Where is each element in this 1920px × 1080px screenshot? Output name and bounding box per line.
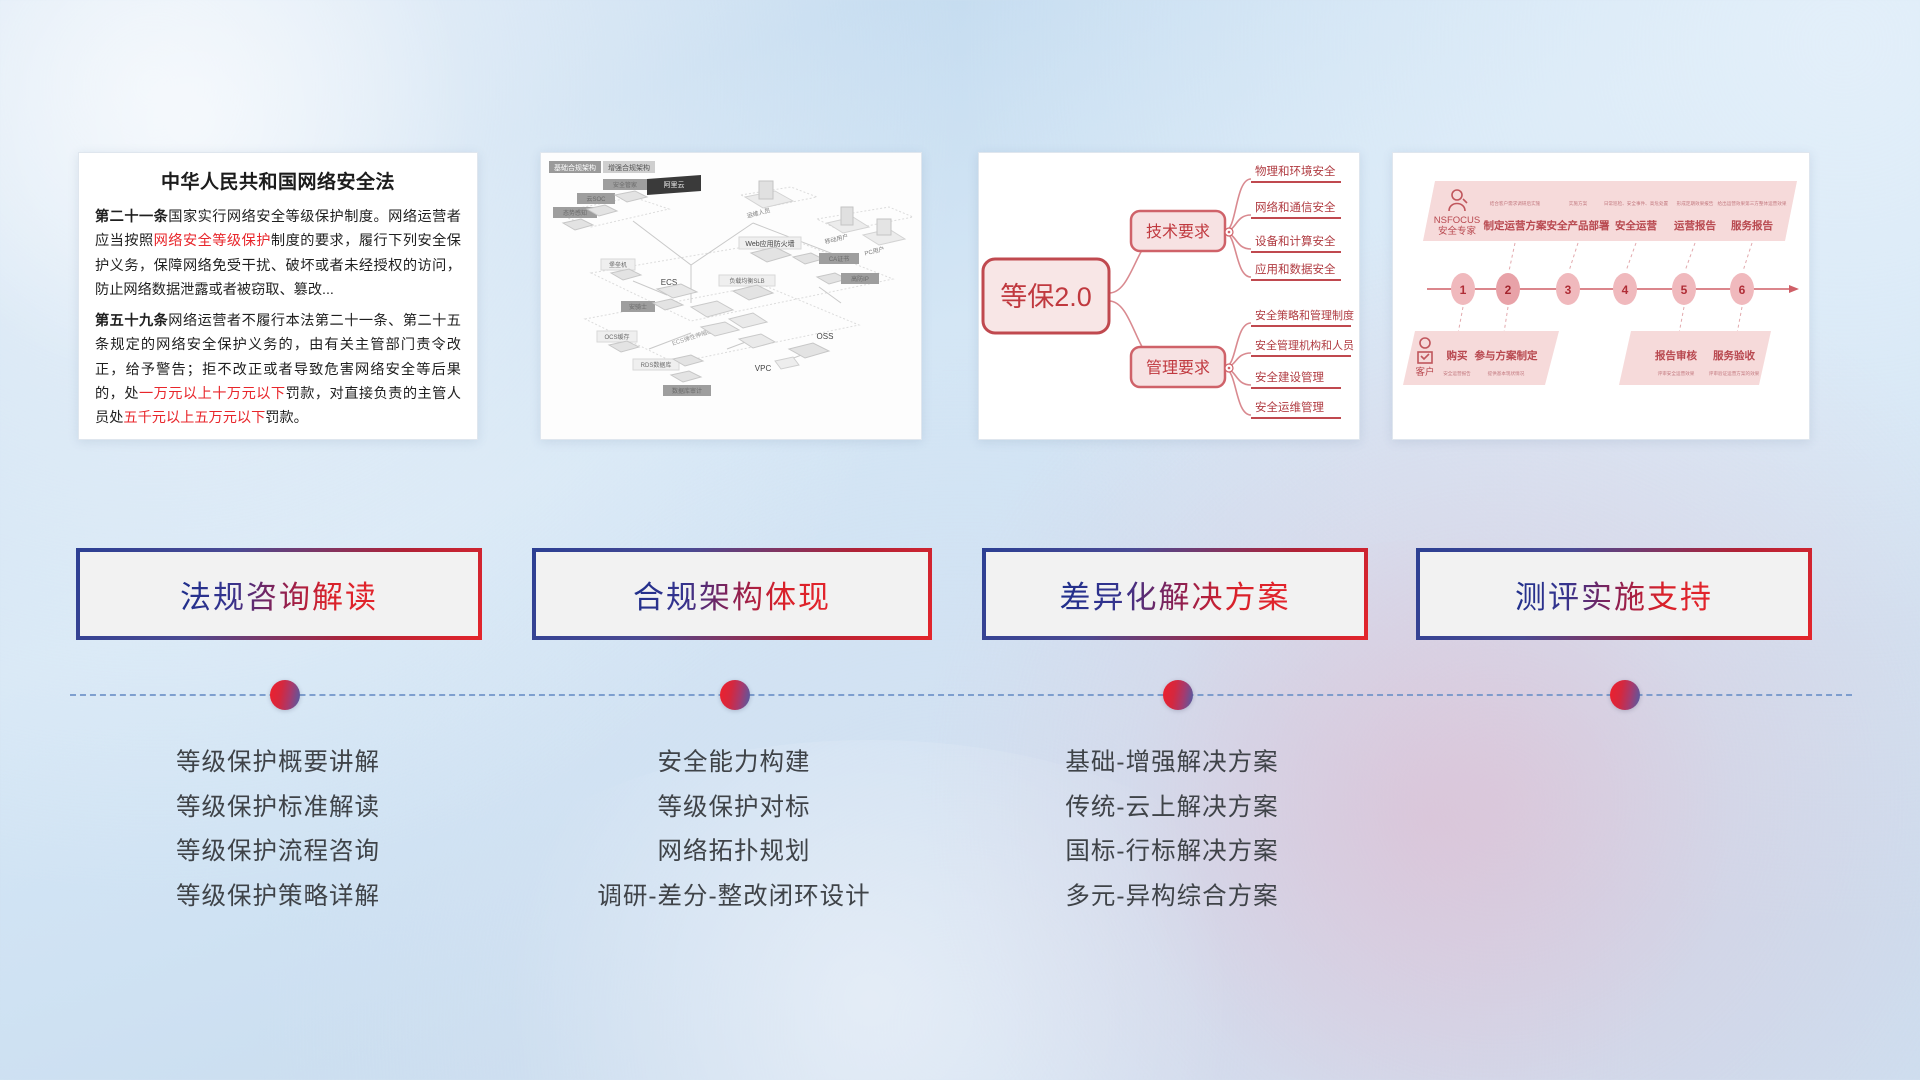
list-item: 等级保护策略详解 xyxy=(68,876,488,921)
mindmap-item-tech-4: 应用和数据安全 xyxy=(1255,262,1336,276)
timeline-dot-3[interactable] xyxy=(1163,680,1193,710)
step-number-1: 1 xyxy=(1460,283,1467,297)
article-59-highlight-b: 五千元以上五万元以下 xyxy=(123,410,265,426)
top-step-3-title: 安全运营 xyxy=(1615,219,1657,232)
mindmap-item-tech-2: 网络和通信安全 xyxy=(1255,200,1336,214)
detail-column-2: 安全能力构建 等级保护对标 网络拓扑规划 调研-差分-整改闭环设计 xyxy=(524,742,944,920)
headline-label-2: 合规架构体现 xyxy=(633,572,831,617)
service-timeline-card: NSFOCUS 安全专家 制定运营方案 安全产品部署 安全运营 运营报告 服务报… xyxy=(1392,152,1810,440)
mindmap-item-mgmt-2: 安全管理机构和人员 xyxy=(1255,338,1354,352)
article-21-highlight: 网络安全等级保护 xyxy=(154,233,271,249)
node-label-vpc: VPC xyxy=(755,364,772,373)
mindmap-item-mgmt-4: 安全运维管理 xyxy=(1255,400,1324,414)
step-number-4: 4 xyxy=(1622,283,1629,297)
list-item: 网络拓扑规划 xyxy=(524,831,944,876)
headline-label-3: 差异化解决方案 xyxy=(1060,572,1291,617)
mindmap-item-tech-3: 设备和计算安全 xyxy=(1255,234,1336,248)
top-step-4-title: 运营报告 xyxy=(1674,219,1716,232)
top-step-4-sub: 形成定期效果报告 xyxy=(1677,200,1714,207)
node-label-agent: 安骑士 xyxy=(629,303,647,311)
tab-enhanced-label: 增强合规架构 xyxy=(608,163,650,172)
top-step-1-sub: 结合客户需求调研后实施 xyxy=(1490,200,1541,207)
node-label-steward: 安全管家 xyxy=(613,181,637,189)
list-item: 等级保护对标 xyxy=(524,787,944,832)
top-actor-line1: NSFOCUS xyxy=(1434,215,1480,226)
service-timeline-svg: NSFOCUS 安全专家 制定运营方案 安全产品部署 安全运营 运营报告 服务报… xyxy=(1393,153,1810,440)
mindmap: 等保2.0 技术要求 物理和环境安全 网络和通信安全 设备和计算安全 应用和数据… xyxy=(979,153,1359,439)
step-number-2: 2 xyxy=(1505,283,1512,297)
list-item: 传统-云上解决方案 xyxy=(962,787,1382,832)
service-timeline: NSFOCUS 安全专家 制定运营方案 安全产品部署 安全运营 运营报告 服务报… xyxy=(1393,153,1809,439)
step-number-3: 3 xyxy=(1565,283,1572,297)
architecture-card: 基础合规架构 增强合规架构 阿里云 xyxy=(540,152,922,440)
node-label-waf: Web应用防火墙 xyxy=(745,239,794,248)
headline-row: 法规咨询解读 合规架构体现 差异化解决方案 测评实施支持 xyxy=(0,548,1920,640)
mindmap-card: 等保2.0 技术要求 物理和环境安全 网络和通信安全 设备和计算安全 应用和数据… xyxy=(978,152,1360,440)
mindmap-svg: 等保2.0 技术要求 物理和环境安全 网络和通信安全 设备和计算安全 应用和数据… xyxy=(979,153,1360,440)
mindmap-center-label: 等保2.0 xyxy=(1000,282,1092,312)
headline-box-1[interactable]: 法规咨询解读 xyxy=(76,548,482,640)
top-step-5-title: 服务报告 xyxy=(1731,219,1773,232)
timeline-dot-1[interactable] xyxy=(270,680,300,710)
step-number-5: 5 xyxy=(1681,283,1688,297)
node-label-oss: OSS xyxy=(817,332,834,341)
architecture-svg: 基础合规架构 增强合规架构 阿里云 xyxy=(541,153,922,440)
list-item: 多元-异构综合方案 xyxy=(962,876,1382,921)
node-label-situational: 态势感知 xyxy=(563,209,587,217)
law-article-59: 第五十九条网络运营者不履行本法第二十一条、第二十五条规定的网络安全保护义务的，由… xyxy=(95,309,461,431)
list-item: 等级保护概要讲解 xyxy=(68,742,488,787)
bottom-step-4-title: 服务验收 xyxy=(1713,349,1755,362)
article-59-text-c: 罚款。 xyxy=(265,410,308,426)
tab-basic-label: 基础合规架构 xyxy=(554,163,596,172)
article-21-label: 第二十一条 xyxy=(95,209,168,225)
mindmap-branch-tech-label: 技术要求 xyxy=(1146,223,1210,241)
list-item: 国标-行标解决方案 xyxy=(962,831,1382,876)
law-card: 中华人民共和国网络安全法 第二十一条国家实行网络安全等级保护制度。网络运营者应当… xyxy=(78,152,478,440)
bottom-step-2-sub: 提供基本现状情况 xyxy=(1488,370,1525,377)
top-actor-line2: 安全专家 xyxy=(1438,225,1477,237)
list-item: 安全能力构建 xyxy=(524,742,944,787)
list-item: 调研-差分-整改闭环设计 xyxy=(524,876,944,921)
timeline-dot-2[interactable] xyxy=(720,680,750,710)
node-label-antiddos: 高防IP xyxy=(851,275,869,283)
headline-box-3[interactable]: 差异化解决方案 xyxy=(982,548,1368,640)
top-step-5-sub: 给出运营效果第三方整体运营效果 xyxy=(1718,200,1787,207)
node-label-bastion: 堡垒机 xyxy=(609,261,627,269)
headline-box-2[interactable]: 合规架构体现 xyxy=(532,548,932,640)
node-label-ocs: OCS缓存 xyxy=(604,333,629,341)
timeline-dot-4[interactable] xyxy=(1610,680,1640,710)
article-59-highlight-a: 一万元以上十万元以下 xyxy=(139,386,286,402)
bottom-step-4-sub: 评审验证运营方案的效果 xyxy=(1709,370,1760,377)
bottom-step-2-title: 参与方案制定 xyxy=(1475,349,1538,362)
headline-label-4: 测评实施支持 xyxy=(1515,572,1713,617)
list-item: 等级保护流程咨询 xyxy=(68,831,488,876)
mindmap-branch-mgmt-label: 管理要求 xyxy=(1146,359,1210,377)
law-article-21: 第二十一条国家实行网络安全等级保护制度。网络运营者应当按照网络安全等级保护制度的… xyxy=(95,205,461,303)
bottom-step-3-title: 报告审核 xyxy=(1655,349,1697,362)
top-step-2-title: 安全产品部署 xyxy=(1547,219,1610,232)
list-item: 基础-增强解决方案 xyxy=(962,742,1382,787)
node-label-soc: 云SOC xyxy=(586,196,606,203)
bottom-step-1-sub: 安全运营报告 xyxy=(1443,370,1471,377)
headline-box-4[interactable]: 测评实施支持 xyxy=(1416,548,1812,640)
top-step-3-sub: 日常巡检、安全事件、高危处置 xyxy=(1604,200,1669,207)
top-banner xyxy=(1423,181,1797,241)
article-59-label: 第五十九条 xyxy=(95,313,168,329)
node-label-ca: CA证书 xyxy=(829,255,849,263)
law-content: 中华人民共和国网络安全法 第二十一条国家实行网络安全等级保护制度。网络运营者应当… xyxy=(79,153,477,440)
mindmap-item-tech-1: 物理和环境安全 xyxy=(1255,164,1336,178)
detail-column-1: 等级保护概要讲解 等级保护标准解读 等级保护流程咨询 等级保护策略详解 xyxy=(68,742,488,920)
top-step-1-title: 制定运营方案 xyxy=(1484,219,1547,232)
architecture-diagram: 基础合规架构 增强合规架构 阿里云 xyxy=(541,153,921,439)
detail-column-3: 基础-增强解决方案 传统-云上解决方案 国标-行标解决方案 多元-异构综合方案 xyxy=(962,742,1382,920)
bottom-step-3-sub: 评审安全运营效果 xyxy=(1658,370,1695,377)
list-item: 等级保护标准解读 xyxy=(68,787,488,832)
bottom-actor-label: 客户 xyxy=(1415,366,1434,378)
card-row: 中华人民共和国网络安全法 第二十一条国家实行网络安全等级保护制度。网络运营者应当… xyxy=(0,152,1920,442)
node-label-slb: 负载均衡SLB xyxy=(729,277,764,285)
node-label-rds: RDS数据库 xyxy=(641,361,672,369)
law-title: 中华人民共和国网络安全法 xyxy=(95,167,461,194)
headline-label-1: 法规咨询解读 xyxy=(180,572,378,617)
top-step-2-sub: 实施方案 xyxy=(1569,200,1588,207)
node-label-dbaudit: 数据库审计 xyxy=(672,387,702,395)
mindmap-item-mgmt-3: 安全建设管理 xyxy=(1255,370,1324,384)
cloud-badge-label: 阿里云 xyxy=(664,180,685,189)
progress-timeline xyxy=(70,694,1852,696)
step-number-6: 6 xyxy=(1739,283,1746,297)
bottom-step-1-title: 购买 xyxy=(1447,349,1469,362)
timeline-dashed-line xyxy=(70,694,1852,696)
mindmap-item-mgmt-1: 安全策略和管理制度 xyxy=(1255,308,1354,322)
